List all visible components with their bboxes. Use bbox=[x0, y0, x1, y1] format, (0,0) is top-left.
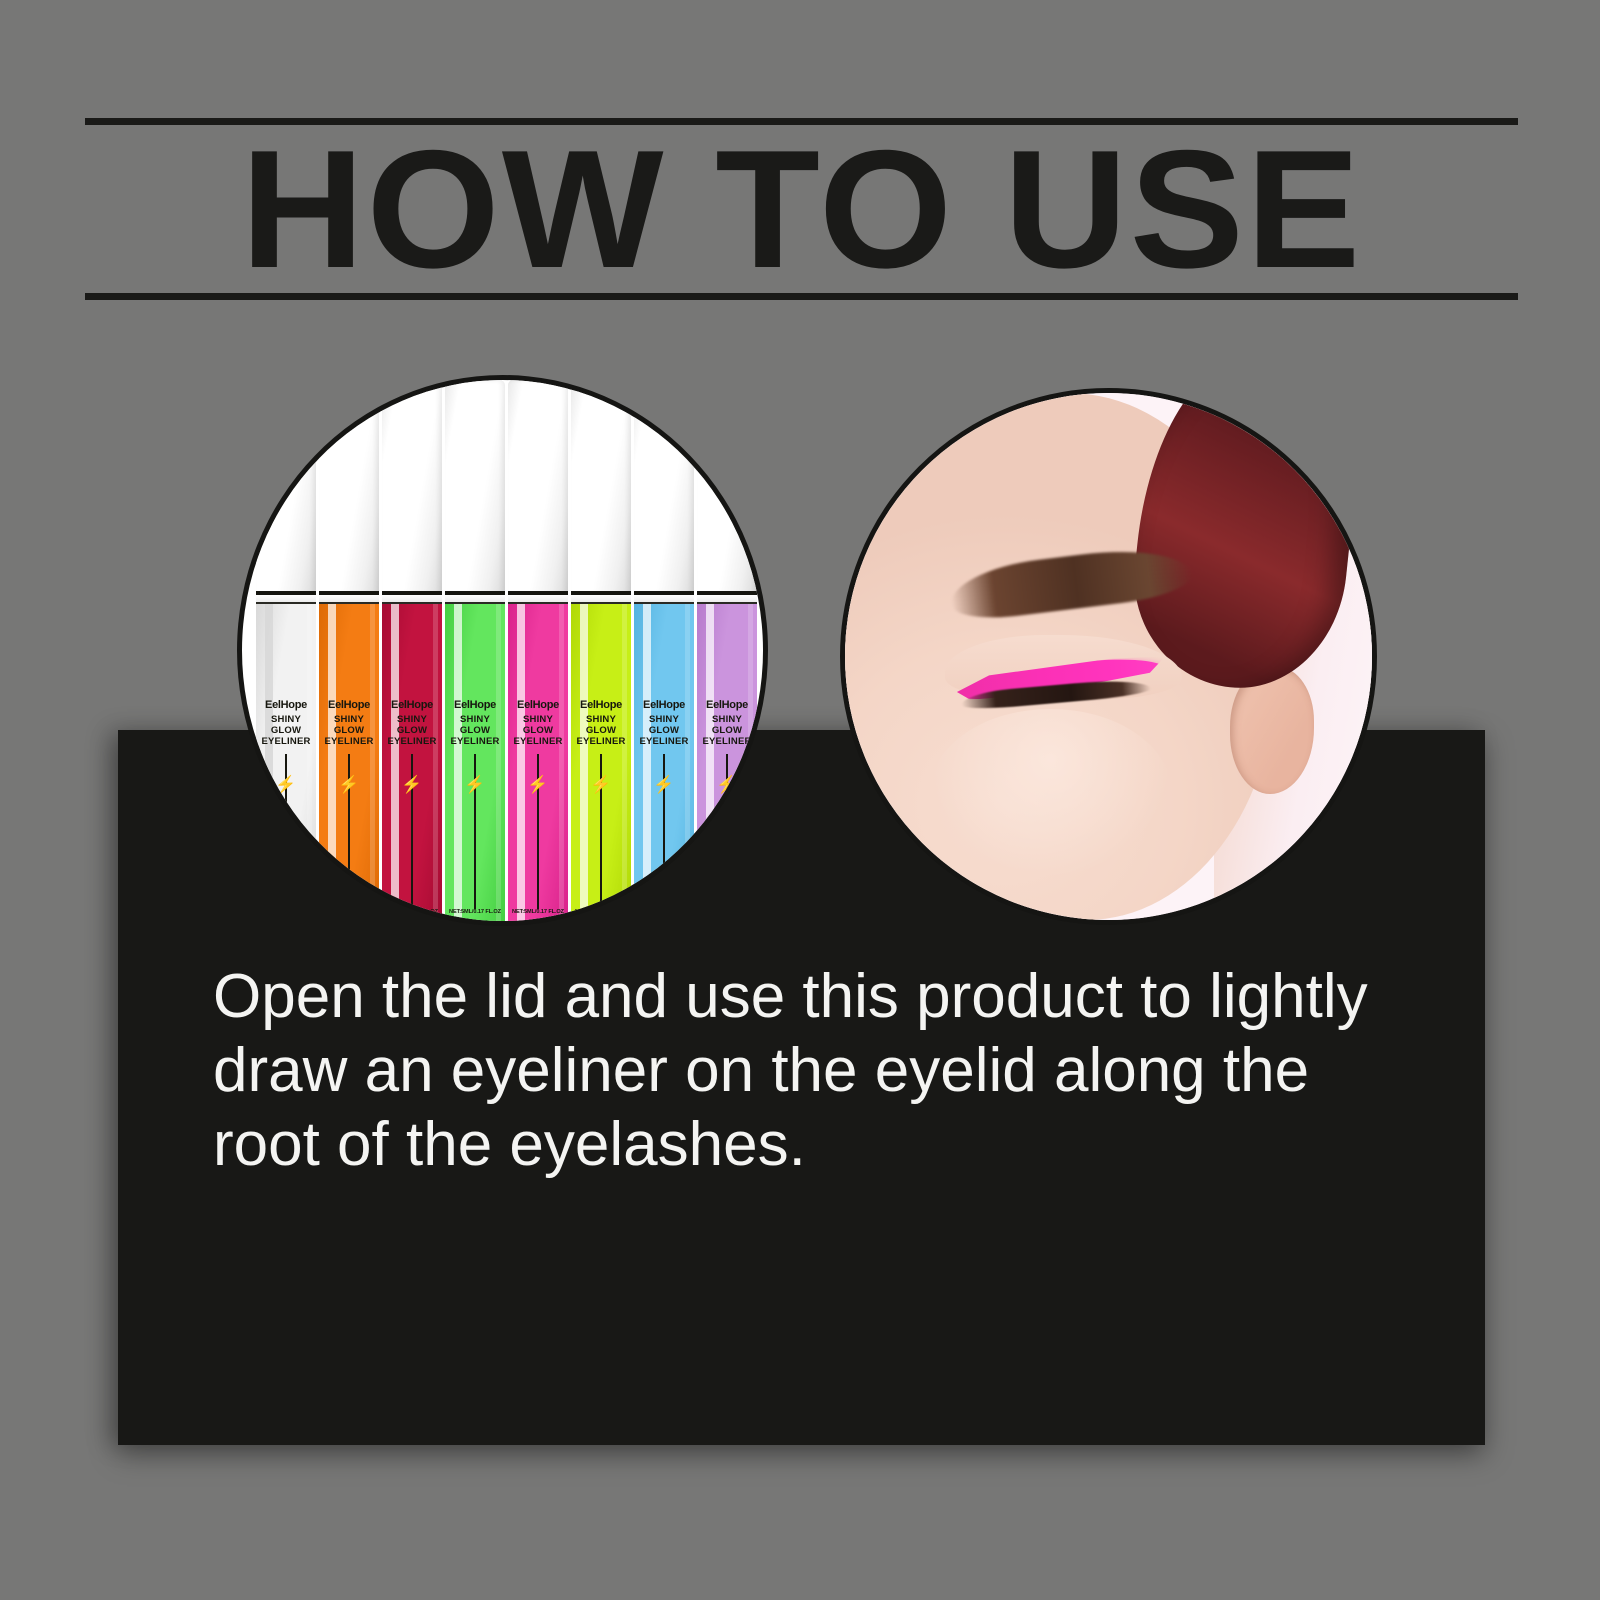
tube-body: EelHopeSHINY GLOWEYELINER⚡NET:5ML/0.17 F… bbox=[634, 604, 694, 921]
tube-brand-label: EelHope bbox=[643, 700, 685, 711]
tube-neck bbox=[697, 595, 757, 604]
tube-cap bbox=[319, 380, 379, 595]
tube-cap bbox=[697, 380, 757, 595]
eyeliner-tube-magenta: EelHopeSHINY GLOWEYELINER⚡NET:5ML/0.17 F… bbox=[508, 380, 568, 921]
tube-brand-label: EelHope bbox=[265, 700, 307, 711]
tube-neck bbox=[319, 595, 379, 604]
tube-brand-label: EelHope bbox=[580, 700, 622, 711]
lightning-bolt-icon: ⚡ bbox=[275, 776, 296, 793]
tube-product-label: SHINY GLOWEYELINER bbox=[697, 714, 757, 747]
tube-product-label: SHINY GLOWEYELINER bbox=[445, 714, 505, 747]
tube-body: EelHopeSHINY GLOWEYELINER⚡NET:5ML/0.17 F… bbox=[256, 604, 316, 921]
tube-body: EelHopeSHINY GLOWEYELINER⚡NET:5ML/0.17 F… bbox=[508, 604, 568, 921]
model-eye-photo bbox=[845, 393, 1372, 920]
tube-net-weight: NET:5ML/0.17 FL.OZ bbox=[386, 909, 438, 921]
eyeliner-tube-chartreuse: EelHopeSHINY GLOWEYELINER⚡NET:5ML/0.17 F… bbox=[571, 380, 631, 921]
lightning-bolt-icon: ⚡ bbox=[716, 776, 737, 793]
tube-product-label: SHINY GLOWEYELINER bbox=[319, 714, 379, 747]
tube-neck bbox=[571, 595, 631, 604]
lightning-bolt-icon: ⚡ bbox=[590, 776, 611, 793]
eyeliner-tube-light-blue: EelHopeSHINY GLOWEYELINER⚡NET:5ML/0.17 F… bbox=[634, 380, 694, 921]
tube-net-weight: NET:5ML/0.17 FL.OZ bbox=[638, 909, 690, 921]
tube-neck bbox=[634, 595, 694, 604]
eyeliner-tube-rack: EelHopeSHINY GLOWEYELINER⚡NET:5ML/0.17 F… bbox=[242, 380, 767, 921]
lightning-bolt-icon: ⚡ bbox=[401, 776, 422, 793]
tube-body: EelHopeSHINY GLOWEYELINER⚡NET:5ML/0.17 F… bbox=[382, 604, 442, 921]
tube-cap bbox=[445, 380, 505, 595]
tube-cap bbox=[382, 380, 442, 595]
tube-cap bbox=[508, 380, 568, 595]
tube-product-label: SHINY GLOWEYELINER bbox=[256, 714, 316, 747]
tube-neck bbox=[445, 595, 505, 604]
eyeliner-tube-white: EelHopeSHINY GLOWEYELINER⚡NET:5ML/0.17 F… bbox=[256, 380, 316, 921]
eyeliner-tube-crimson: EelHopeSHINY GLOWEYELINER⚡NET:5ML/0.17 F… bbox=[382, 380, 442, 921]
tube-neck bbox=[508, 595, 568, 604]
lightning-bolt-icon: ⚡ bbox=[464, 776, 485, 793]
eyeliner-tube-green: EelHopeSHINY GLOWEYELINER⚡NET:5ML/0.17 F… bbox=[445, 380, 505, 921]
tube-net-weight: NET:5ML/0.17 FL.OZ bbox=[323, 909, 375, 921]
model-photo-circle bbox=[840, 388, 1377, 925]
title-rule-bottom bbox=[85, 293, 1518, 300]
lightning-bolt-icon: ⚡ bbox=[338, 776, 359, 793]
tube-brand-label: EelHope bbox=[517, 700, 559, 711]
lightning-bolt-icon: ⚡ bbox=[527, 776, 548, 793]
tube-neck bbox=[256, 595, 316, 604]
tube-body: EelHopeSHINY GLOWEYELINER⚡NET:5ML/0.17 F… bbox=[571, 604, 631, 921]
tube-product-label: SHINY GLOWEYELINER bbox=[382, 714, 442, 747]
tube-brand-label: EelHope bbox=[454, 700, 496, 711]
tube-net-weight: NET:5ML/0.17 FL.OZ bbox=[260, 909, 312, 921]
page-title: HOW TO USE bbox=[71, 125, 1533, 293]
lightning-bolt-icon: ⚡ bbox=[653, 776, 674, 793]
tube-cap bbox=[256, 380, 316, 595]
tube-product-label: SHINY GLOWEYELINER bbox=[508, 714, 568, 747]
tube-net-weight: NET:5ML/0.17 FL.OZ bbox=[449, 909, 501, 921]
tube-product-label: SHINY GLOWEYELINER bbox=[571, 714, 631, 747]
tube-net-weight: NET:5ML/0.17 FL.OZ bbox=[701, 909, 753, 921]
instruction-text: Open the lid and use this product to lig… bbox=[213, 960, 1388, 1182]
eyeliner-tube-orange: EelHopeSHINY GLOWEYELINER⚡NET:5ML/0.17 F… bbox=[319, 380, 379, 921]
tube-brand-label: EelHope bbox=[391, 700, 433, 711]
eyeliner-tube-lilac: EelHopeSHINY GLOWEYELINER⚡NET:5ML/0.17 F… bbox=[697, 380, 757, 921]
how-to-use-infographic: HOW TO USE Open the lid and use this pro… bbox=[0, 0, 1600, 1600]
tube-brand-label: EelHope bbox=[706, 700, 748, 711]
tube-net-weight: NET:5ML/0.17 FL.OZ bbox=[575, 909, 627, 921]
tube-cap bbox=[571, 380, 631, 595]
tube-brand-label: EelHope bbox=[328, 700, 370, 711]
tube-body: EelHopeSHINY GLOWEYELINER⚡NET:5ML/0.17 F… bbox=[697, 604, 757, 921]
tube-product-label: SHINY GLOWEYELINER bbox=[634, 714, 694, 747]
product-lineup-circle: EelHopeSHINY GLOWEYELINER⚡NET:5ML/0.17 F… bbox=[237, 375, 768, 926]
tube-neck bbox=[382, 595, 442, 604]
tube-net-weight: NET:5ML/0.17 FL.OZ bbox=[512, 909, 564, 921]
tube-body: EelHopeSHINY GLOWEYELINER⚡NET:5ML/0.17 F… bbox=[319, 604, 379, 921]
tube-cap bbox=[634, 380, 694, 595]
cheek-highlight bbox=[929, 709, 1171, 878]
tube-body: EelHopeSHINY GLOWEYELINER⚡NET:5ML/0.17 F… bbox=[445, 604, 505, 921]
